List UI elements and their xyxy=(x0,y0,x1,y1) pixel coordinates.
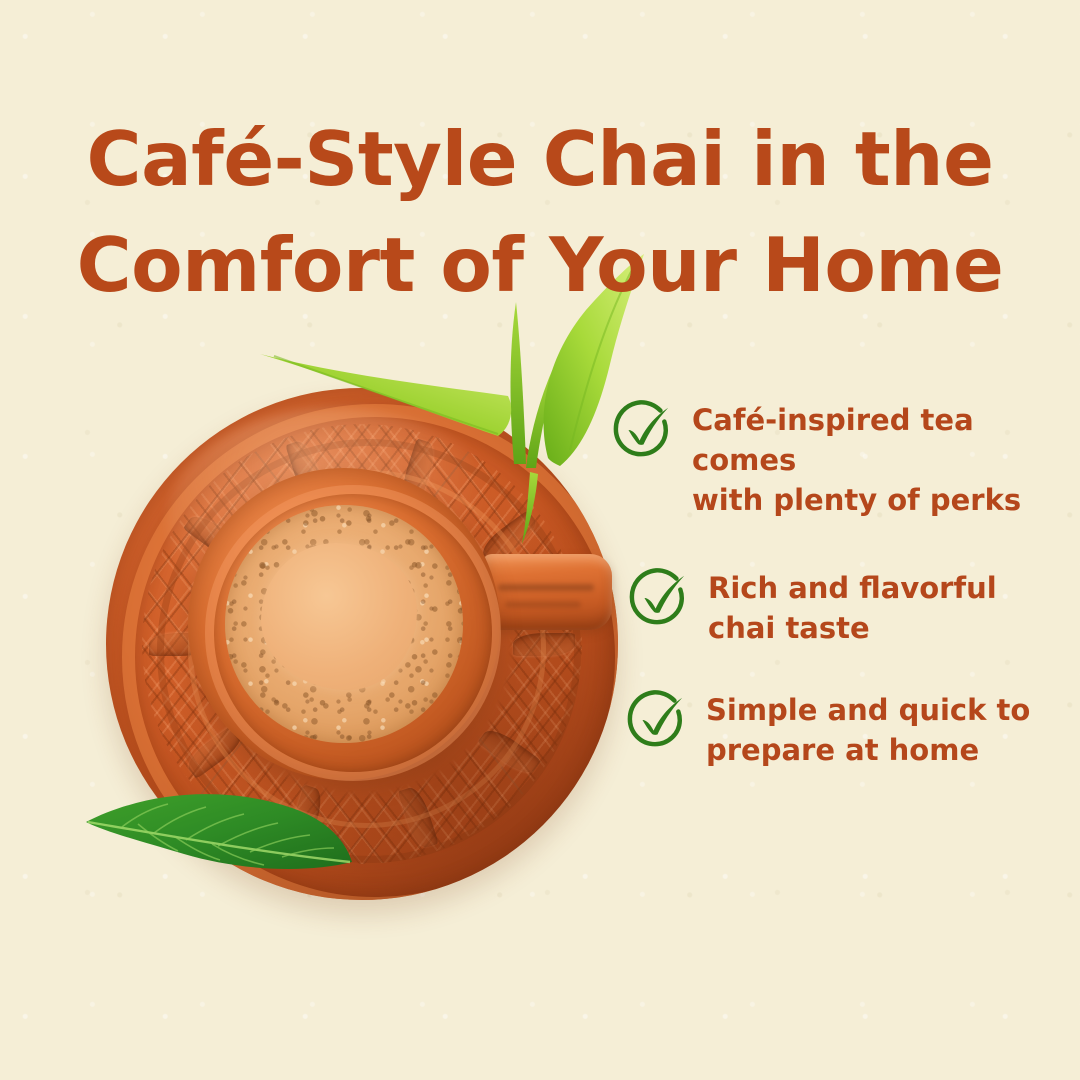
list-item-label: Café-inspired tea comes with plenty of p… xyxy=(692,396,1064,520)
check-circle-icon xyxy=(612,398,674,460)
list-item: Rich and flavorful chai taste xyxy=(628,564,1064,648)
bullet-line-1: Café-inspired tea comes xyxy=(692,403,974,477)
check-circle-icon xyxy=(626,688,688,750)
headline-line-2: Comfort of Your Home xyxy=(0,212,1080,318)
list-item-label: Simple and quick to prepare at home xyxy=(706,686,1030,770)
clay-cup xyxy=(188,468,500,780)
product-photo xyxy=(78,236,658,916)
bullet-line-1: Simple and quick to xyxy=(706,693,1030,727)
bullet-line-1: Rich and flavorful xyxy=(708,571,997,605)
benefits-list: Café-inspired tea comes with plenty of p… xyxy=(612,396,1064,770)
chai-liquid xyxy=(225,505,462,742)
bullet-line-2: prepare at home xyxy=(706,733,979,767)
bullet-line-2: chai taste xyxy=(708,611,870,645)
bullet-line-2: with plenty of perks xyxy=(692,483,1021,517)
handle-streak-secondary xyxy=(505,601,580,608)
chai-milk-center xyxy=(261,543,417,690)
check-circle-icon xyxy=(628,566,690,628)
handle-streak xyxy=(498,584,594,591)
tea-leaf-icon xyxy=(78,756,378,916)
list-item: Simple and quick to prepare at home xyxy=(626,686,1064,770)
cup-handle xyxy=(482,554,612,630)
headline-line-1: Café-Style Chai in the xyxy=(0,106,1080,212)
page-title: Café-Style Chai in the Comfort of Your H… xyxy=(0,106,1080,318)
list-item: Café-inspired tea comes with plenty of p… xyxy=(612,396,1064,520)
promo-poster: Café-Style Chai in the Comfort of Your H… xyxy=(0,0,1080,1080)
list-item-label: Rich and flavorful chai taste xyxy=(708,564,997,648)
